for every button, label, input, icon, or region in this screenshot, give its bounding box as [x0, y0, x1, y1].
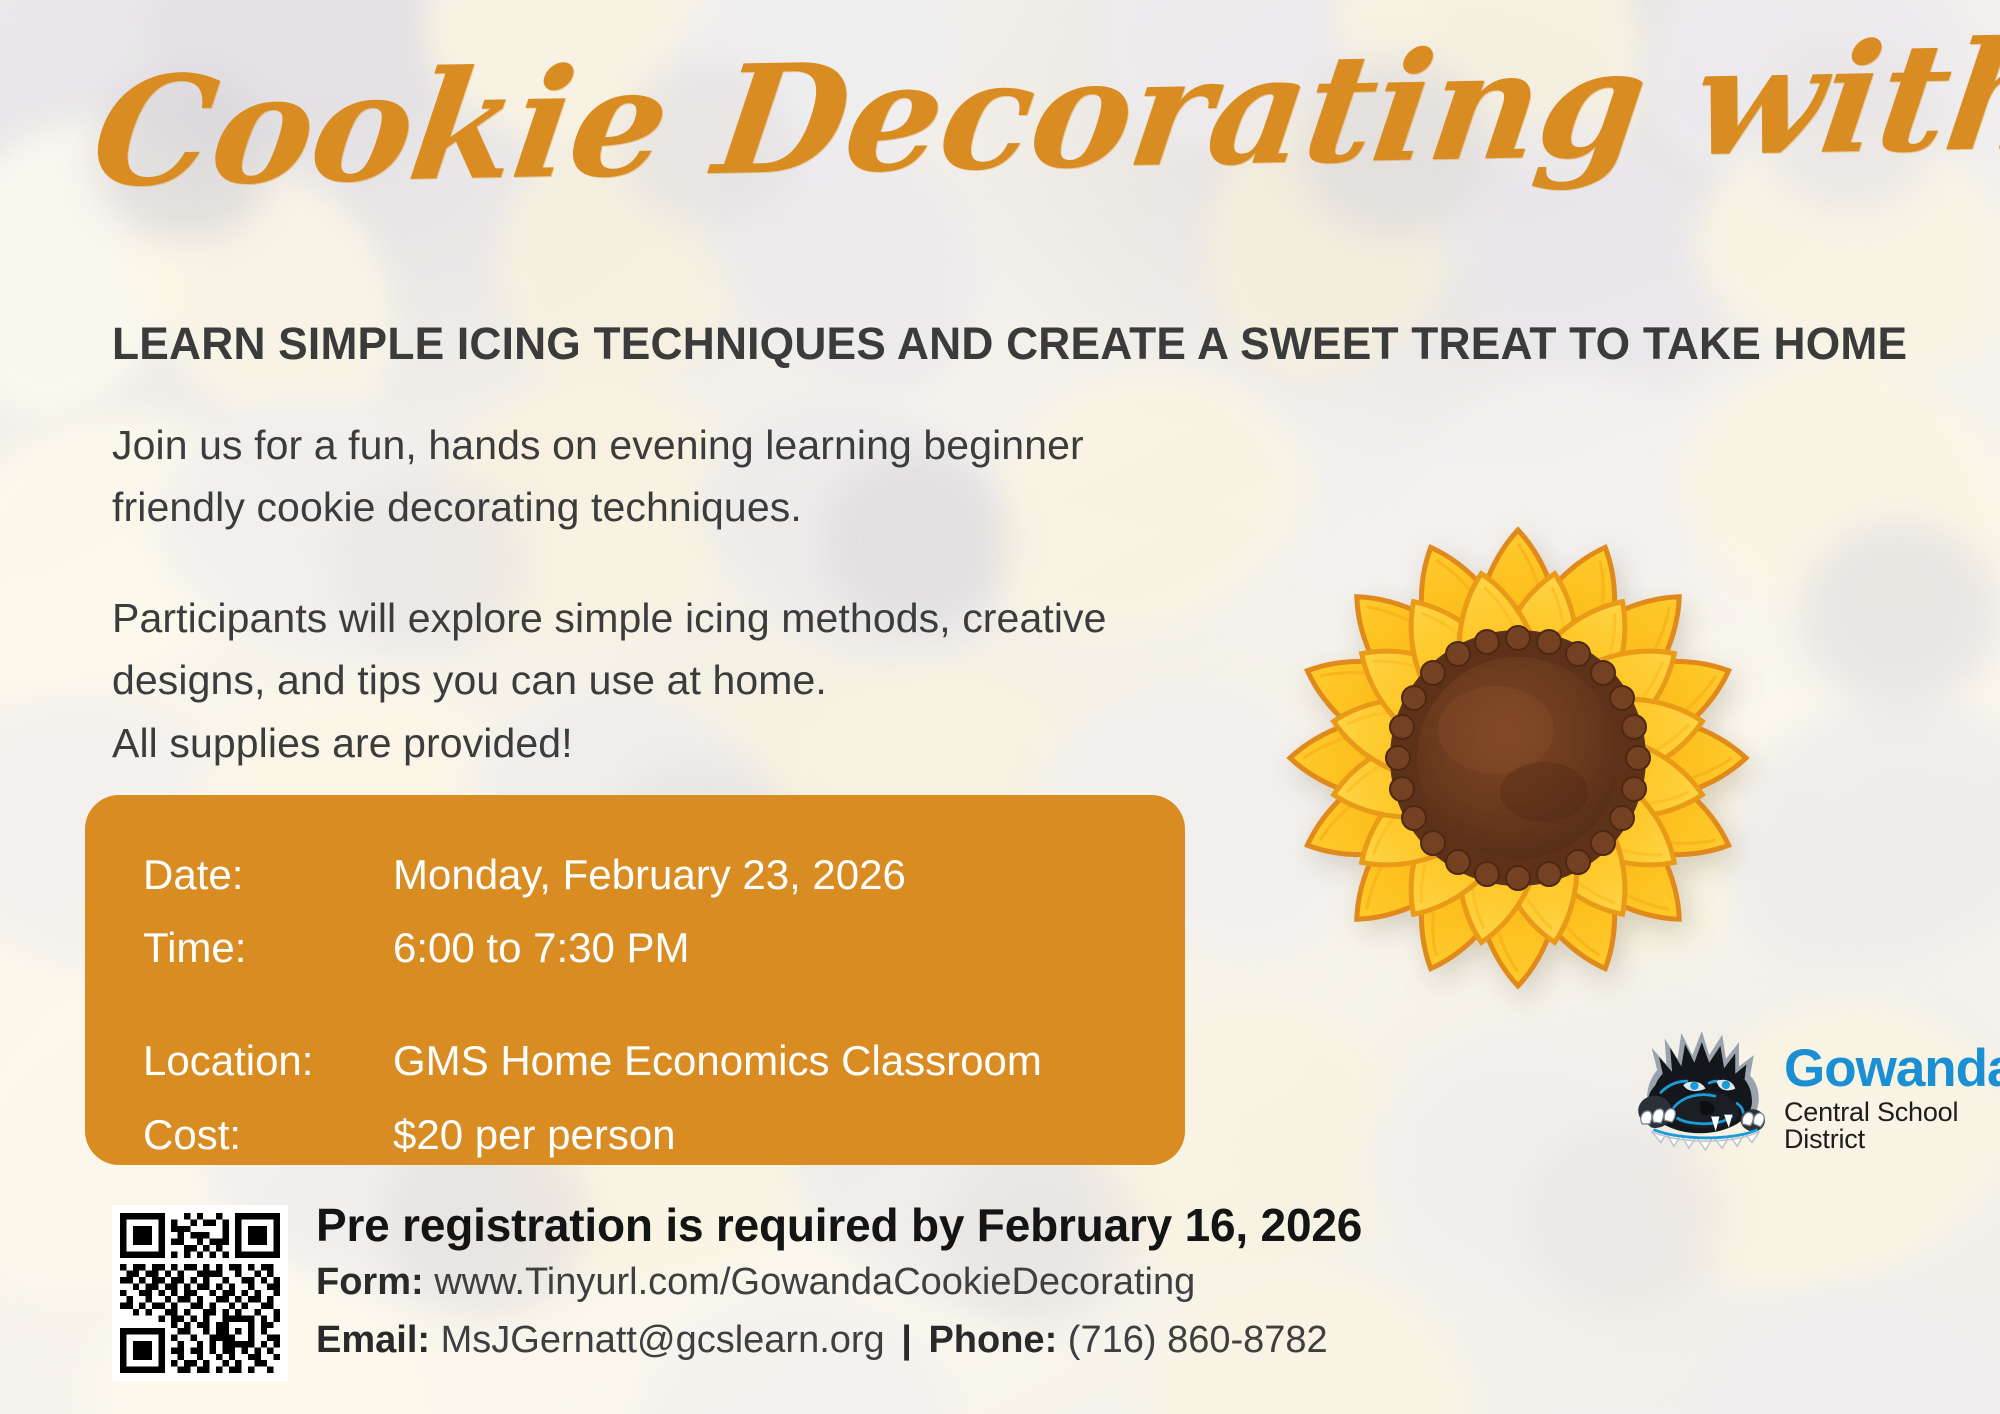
- event-details-grid: Date: Monday, February 23, 2026 Time: 6:…: [143, 841, 1042, 1168]
- logo-tagline: Central School District: [1784, 1099, 2000, 1153]
- location-value: GMS Home Economics Classroom: [393, 1027, 1042, 1094]
- email-phone-line: Email: MsJGernatt@gcslearn.org | Phone: …: [316, 1314, 1816, 1368]
- qr-code-icon[interactable]: [112, 1205, 288, 1381]
- location-label: Location:: [143, 1027, 393, 1094]
- email-address[interactable]: MsJGernatt@gcslearn.org: [441, 1319, 885, 1361]
- cost-value: $20 per person: [393, 1101, 1042, 1168]
- district-logo: Gowanda Central School District: [1620, 1022, 2000, 1172]
- description-paragraph: Participants will explore simple icing m…: [112, 587, 1202, 774]
- logo-wordmark: Gowanda Central School District: [1784, 1042, 2000, 1153]
- date-label: Date:: [143, 841, 393, 908]
- date-value: Monday, February 23, 2026: [393, 841, 1042, 908]
- panther-mascot-icon: [1620, 1027, 1778, 1167]
- time-label: Time:: [143, 914, 393, 981]
- form-line: Form: www.Tinyurl.com/GowandaCookieDecor…: [316, 1256, 1816, 1310]
- phone-number[interactable]: (716) 860-8782: [1068, 1319, 1328, 1361]
- email-label: Email:: [316, 1319, 430, 1361]
- phone-label: Phone:: [928, 1319, 1057, 1361]
- sunflower-cookie-image: [1188, 420, 1848, 1080]
- flyer-page: Cookie Decorating with Lottie LEARN SIMP…: [0, 0, 2000, 1414]
- registration-block: Pre registration is required by February…: [316, 1198, 1816, 1368]
- event-details-card: Date: Monday, February 23, 2026 Time: 6:…: [85, 795, 1185, 1165]
- form-url[interactable]: www.Tinyurl.com/GowandaCookieDecorating: [434, 1261, 1195, 1303]
- page-title: Cookie Decorating with Lottie: [84, 16, 1972, 214]
- logo-name: Gowanda: [1784, 1042, 2000, 1095]
- form-label: Form:: [316, 1261, 424, 1303]
- cost-label: Cost:: [143, 1101, 393, 1168]
- intro-paragraph: Join us for a fun, hands on evening lear…: [112, 414, 1172, 539]
- time-value: 6:00 to 7:30 PM: [393, 914, 1042, 981]
- registration-headline: Pre registration is required by February…: [316, 1198, 1816, 1252]
- field-separator: |: [895, 1319, 918, 1361]
- page-subtitle: LEARN SIMPLE ICING TECHNIQUES AND CREATE…: [112, 318, 1905, 370]
- details-spacer: [143, 987, 1042, 1021]
